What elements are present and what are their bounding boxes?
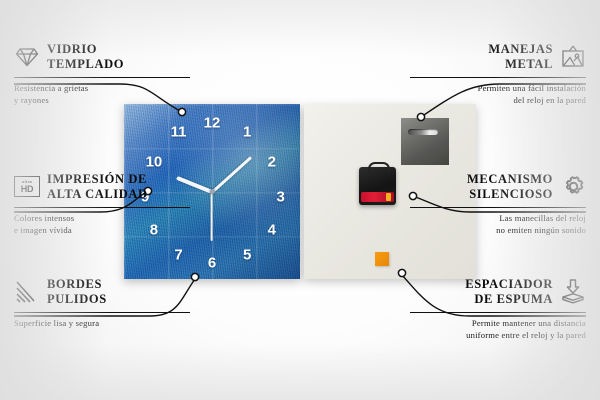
feature-title: VIDRIOTEMPLADO: [47, 42, 124, 72]
feature-divider: [14, 312, 190, 313]
feature-title: MECANISMOSILENCIOSO: [467, 172, 553, 202]
feature-divider: [14, 77, 190, 78]
clock-mechanism: [359, 167, 396, 205]
hanger-slot: [408, 129, 438, 135]
feature-description: Permiten una fácil instalación del reloj…: [410, 82, 586, 107]
clock-hour-12: 12: [204, 116, 221, 131]
foam-spacer: [375, 252, 389, 266]
clock-hour-4: 4: [268, 223, 276, 238]
clock-hour-7: 7: [174, 247, 182, 262]
feature-title: IMPRESIÓN DEALTA CALIDAD: [47, 172, 148, 202]
feature-divider: [410, 77, 586, 78]
clock-hour-2: 2: [268, 154, 276, 169]
clock-center-pin: [210, 189, 215, 194]
feature-header: MECANISMOSILENCIOSO: [410, 172, 586, 202]
feature-header: ESPACIADORDE ESPUMA: [410, 277, 586, 307]
feature-bordes-pulidos: BORDESPULIDOS Superficie lisa y segura: [14, 277, 190, 329]
feature-impresion-alta-calidad: ultra HD IMPRESIÓN DEALTA CALIDAD Colore…: [14, 172, 190, 236]
clock-hour-11: 11: [171, 125, 187, 140]
gear-icon: [560, 174, 586, 200]
feature-divider: [410, 312, 586, 313]
polished-edges-icon: [14, 279, 40, 305]
clock-second-hand: [211, 192, 213, 241]
feature-description: Resistencia a grietas y rayones: [14, 82, 190, 107]
feature-title: ESPACIADORDE ESPUMA: [465, 277, 553, 307]
feature-header: MANEJASMETAL: [410, 42, 586, 72]
clock-hour-3: 3: [276, 189, 284, 204]
feature-header: BORDESPULIDOS: [14, 277, 190, 307]
feature-description: Superficie lisa y segura: [14, 317, 190, 329]
hd-label: HD: [21, 185, 34, 194]
feature-divider: [14, 207, 190, 208]
feature-divider: [410, 207, 586, 208]
mechanism-hook: [368, 162, 390, 172]
ultra-hd-icon: ultra HD: [14, 174, 40, 200]
battery: [361, 192, 394, 202]
picture-frame-icon: [560, 44, 586, 70]
feature-title: BORDESPULIDOS: [47, 277, 107, 307]
clock-hour-1: 1: [243, 125, 251, 140]
feature-description: Permite mantener una distancia uniforme …: [410, 317, 586, 342]
feature-espaciador-espuma: ESPACIADORDE ESPUMA Permite mantener una…: [410, 277, 586, 341]
feature-vidrio-templado: VIDRIOTEMPLADO Resistencia a grietas y r…: [14, 42, 190, 106]
feature-title: MANEJASMETAL: [488, 42, 553, 72]
clock-hour-6: 6: [208, 256, 216, 271]
clock-hour-5: 5: [243, 247, 251, 262]
infographic-canvas: 12 1 2 3 4 5 6 7 8 9 10 11: [0, 0, 600, 400]
diamond-icon: [14, 44, 40, 70]
feature-header: ultra HD IMPRESIÓN DEALTA CALIDAD: [14, 172, 190, 202]
feature-manejas-metal: MANEJASMETAL Permiten una fácil instalac…: [410, 42, 586, 106]
feature-description: Las manecillas del reloj no emiten ningú…: [410, 212, 586, 237]
clock-hour-10: 10: [146, 154, 163, 169]
foam-spacer-icon: [560, 279, 586, 305]
feature-header: VIDRIOTEMPLADO: [14, 42, 190, 72]
feature-mecanismo-silencioso: MECANISMOSILENCIOSO Las manecillas del r…: [410, 172, 586, 236]
metal-hanger-plate: [401, 118, 449, 165]
feature-description: Colores intensos e imagen vívida: [14, 212, 190, 237]
